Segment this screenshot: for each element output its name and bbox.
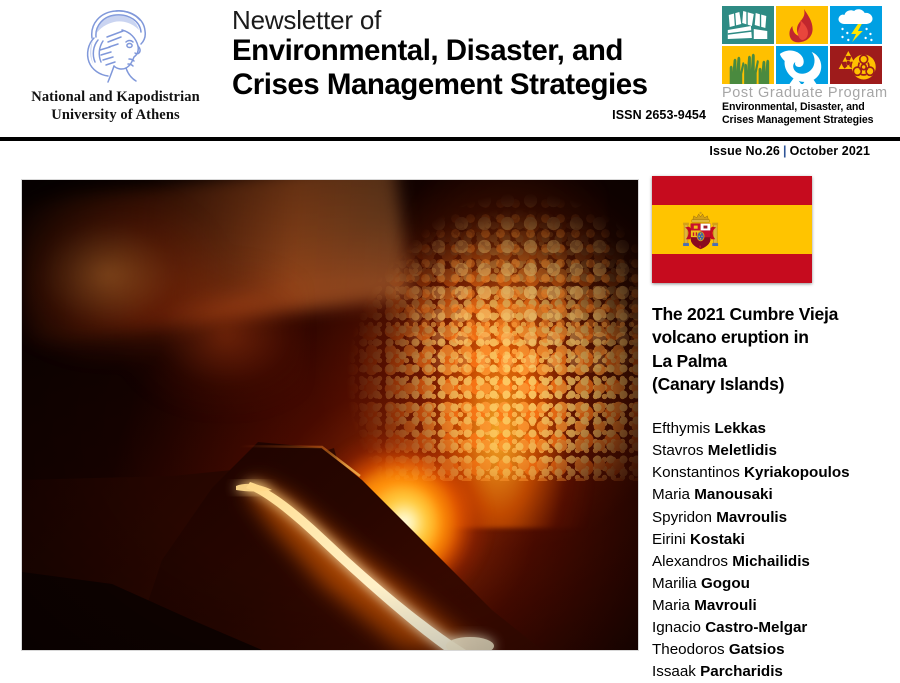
author-item: Alexandros Michailidis — [652, 551, 892, 573]
author-given-name: Maria — [652, 597, 690, 614]
author-family-name: Meletlidis — [708, 442, 777, 459]
author-item: Spyridon Mavroulis — [652, 507, 892, 529]
pgp-title: Post Graduate Program — [722, 86, 892, 101]
flag-band-middle — [652, 205, 812, 255]
author-given-name: Konstantinos — [652, 464, 740, 481]
author-family-name: Manousaki — [694, 486, 773, 503]
author-item: Ignacio Castro-Melgar — [652, 617, 892, 639]
issue-separator: | — [780, 144, 790, 158]
pgp-subtitle-line-2: Crises Management Strategies — [722, 114, 892, 126]
author-family-name: Castro-Melgar — [705, 619, 807, 636]
photo-vignette — [22, 180, 638, 650]
article-title-line-2: volcano eruption in — [652, 326, 892, 349]
author-given-name: Alexandros — [652, 553, 728, 570]
article-title: The 2021 Cumbre Vieja volcano eruption i… — [652, 303, 892, 396]
radiation-biohazard-icon — [830, 46, 882, 84]
athena-head-icon — [76, 4, 156, 88]
spain-flag — [652, 176, 812, 283]
university-logo-block: National and Kapodistrian University of … — [8, 4, 223, 124]
author-given-name: Issaak — [652, 663, 696, 680]
author-given-name: Theodoros — [652, 641, 725, 658]
post-graduate-program-logo: Post Graduate Program Environmental, Dis… — [722, 6, 892, 126]
earthquake-building-collapse-icon — [722, 6, 774, 44]
article-title-line-4: (Canary Islands) — [652, 373, 892, 396]
author-family-name: Gogou — [701, 575, 750, 592]
issue-number: Issue No.26 — [709, 144, 780, 158]
article-title-line-1: The 2021 Cumbre Vieja — [652, 303, 892, 326]
author-item: Efthymis Lekkas — [652, 418, 892, 440]
author-family-name: Kostaki — [690, 531, 745, 548]
author-item: Konstantinos Kyriakopoulos — [652, 462, 892, 484]
pgp-subtitle: Environmental, Disaster, and Crises Mana… — [722, 101, 892, 126]
pgp-subtitle-line-1: Environmental, Disaster, and — [722, 101, 892, 113]
author-given-name: Marilia — [652, 575, 697, 592]
author-family-name: Kyriakopoulos — [744, 464, 850, 481]
author-item: Eirini Kostaki — [652, 529, 892, 551]
fire-flame-icon — [776, 6, 828, 44]
university-caption-line-2: University of Athens — [8, 107, 223, 125]
header-divider-rule — [0, 137, 900, 141]
issn-label: ISSN 2653-9454 — [232, 108, 712, 122]
author-family-name: Lekkas — [714, 420, 766, 437]
page-header: National and Kapodistrian University of … — [0, 0, 900, 138]
author-given-name: Spyridon — [652, 509, 712, 526]
author-given-name: Eirini — [652, 531, 686, 548]
author-given-name: Efthymis — [652, 420, 710, 437]
author-given-name: Maria — [652, 486, 690, 503]
university-caption: National and Kapodistrian University of … — [8, 89, 223, 124]
author-item: Stavros Meletlidis — [652, 440, 892, 462]
masthead-title-line-2: Crises Management Strategies — [232, 68, 712, 102]
issue-date: October 2021 — [790, 144, 870, 158]
author-item: Theodoros Gatsios — [652, 639, 892, 661]
author-given-name: Ignacio — [652, 619, 701, 636]
author-list: Efthymis Lekkas Stavros Meletlidis Konst… — [652, 418, 892, 683]
issue-line: Issue No.26|October 2021 — [709, 144, 870, 158]
spain-coat-of-arms-icon — [679, 211, 722, 254]
tsunami-flood-wave-icon — [776, 46, 828, 84]
author-family-name: Michailidis — [732, 553, 810, 570]
author-item: Marilia Gogou — [652, 573, 892, 595]
masthead-title-line-1: Environmental, Disaster, and — [232, 34, 712, 68]
author-item: Maria Mavrouli — [652, 595, 892, 617]
author-family-name: Mavroulis — [716, 509, 787, 526]
masthead-kicker: Newsletter of — [232, 6, 712, 34]
helping-hands-icon — [722, 46, 774, 84]
author-family-name: Gatsios — [729, 641, 785, 658]
storm-cloud-lightning-icon — [830, 6, 882, 44]
author-family-name: Parcharidis — [700, 663, 783, 680]
article-title-line-3: La Palma — [652, 350, 892, 373]
author-item: Maria Manousaki — [652, 484, 892, 506]
volcano-eruption-photo — [22, 180, 638, 650]
pgp-icon-grid — [722, 6, 882, 84]
flag-band-top — [652, 176, 812, 205]
author-family-name: Mavrouli — [694, 597, 756, 614]
flag-band-bottom — [652, 254, 812, 283]
author-item: Issaak Parcharidis — [652, 661, 892, 683]
cover-right-column: The 2021 Cumbre Vieja volcano eruption i… — [652, 176, 892, 683]
university-caption-line-1: National and Kapodistrian — [8, 89, 223, 107]
masthead: Newsletter of Environmental, Disaster, a… — [232, 6, 712, 122]
author-given-name: Stavros — [652, 442, 704, 459]
